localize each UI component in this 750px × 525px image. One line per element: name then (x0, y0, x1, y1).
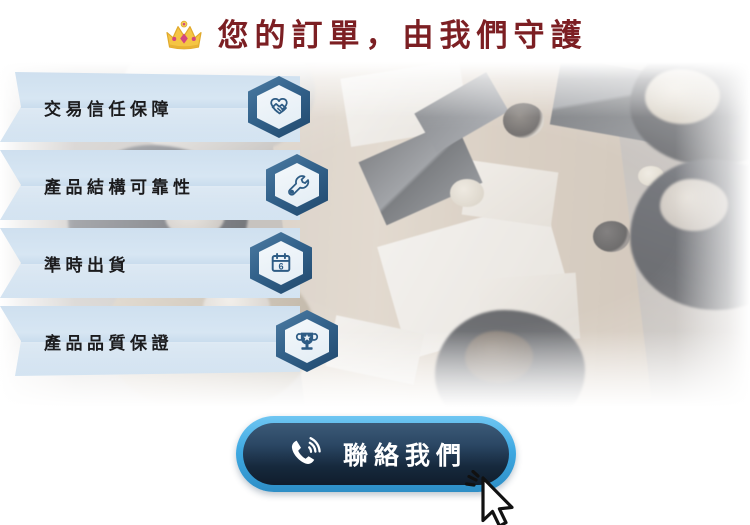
contact-us-button[interactable]: 聯絡我們 (243, 423, 509, 485)
calendar-day-number: 6 (278, 261, 283, 271)
promo-banner: 您的訂單，由我們守護 交易信任保障 (0, 0, 750, 525)
list-item[interactable]: 交易信任保障 (0, 72, 330, 142)
list-item[interactable]: 產品品質保證 (0, 306, 330, 376)
calendar-icon: 6 (250, 232, 312, 294)
feature-label: 準時出貨 (44, 228, 130, 298)
page-title: 您的訂單，由我們守護 (0, 8, 750, 62)
feature-list: 交易信任保障 產品結構可靠性 (0, 72, 400, 392)
wrench-icon (266, 154, 328, 216)
list-item[interactable]: 產品結構可靠性 (0, 150, 330, 220)
feature-label: 產品結構可靠性 (44, 150, 195, 220)
crown-icon (163, 19, 205, 53)
contact-cta: 聯絡我們 (236, 416, 516, 492)
contact-us-button-label: 聯絡我們 (339, 436, 467, 472)
heart-handshake-icon (248, 76, 310, 138)
trophy-icon (276, 310, 338, 372)
phone-ringing-icon (285, 433, 325, 473)
list-item[interactable]: 準時出貨 6 (0, 228, 330, 298)
feature-label: 交易信任保障 (44, 72, 173, 142)
page-title-text: 您的訂單，由我們守護 (215, 20, 588, 51)
feature-label: 產品品質保證 (44, 306, 173, 376)
